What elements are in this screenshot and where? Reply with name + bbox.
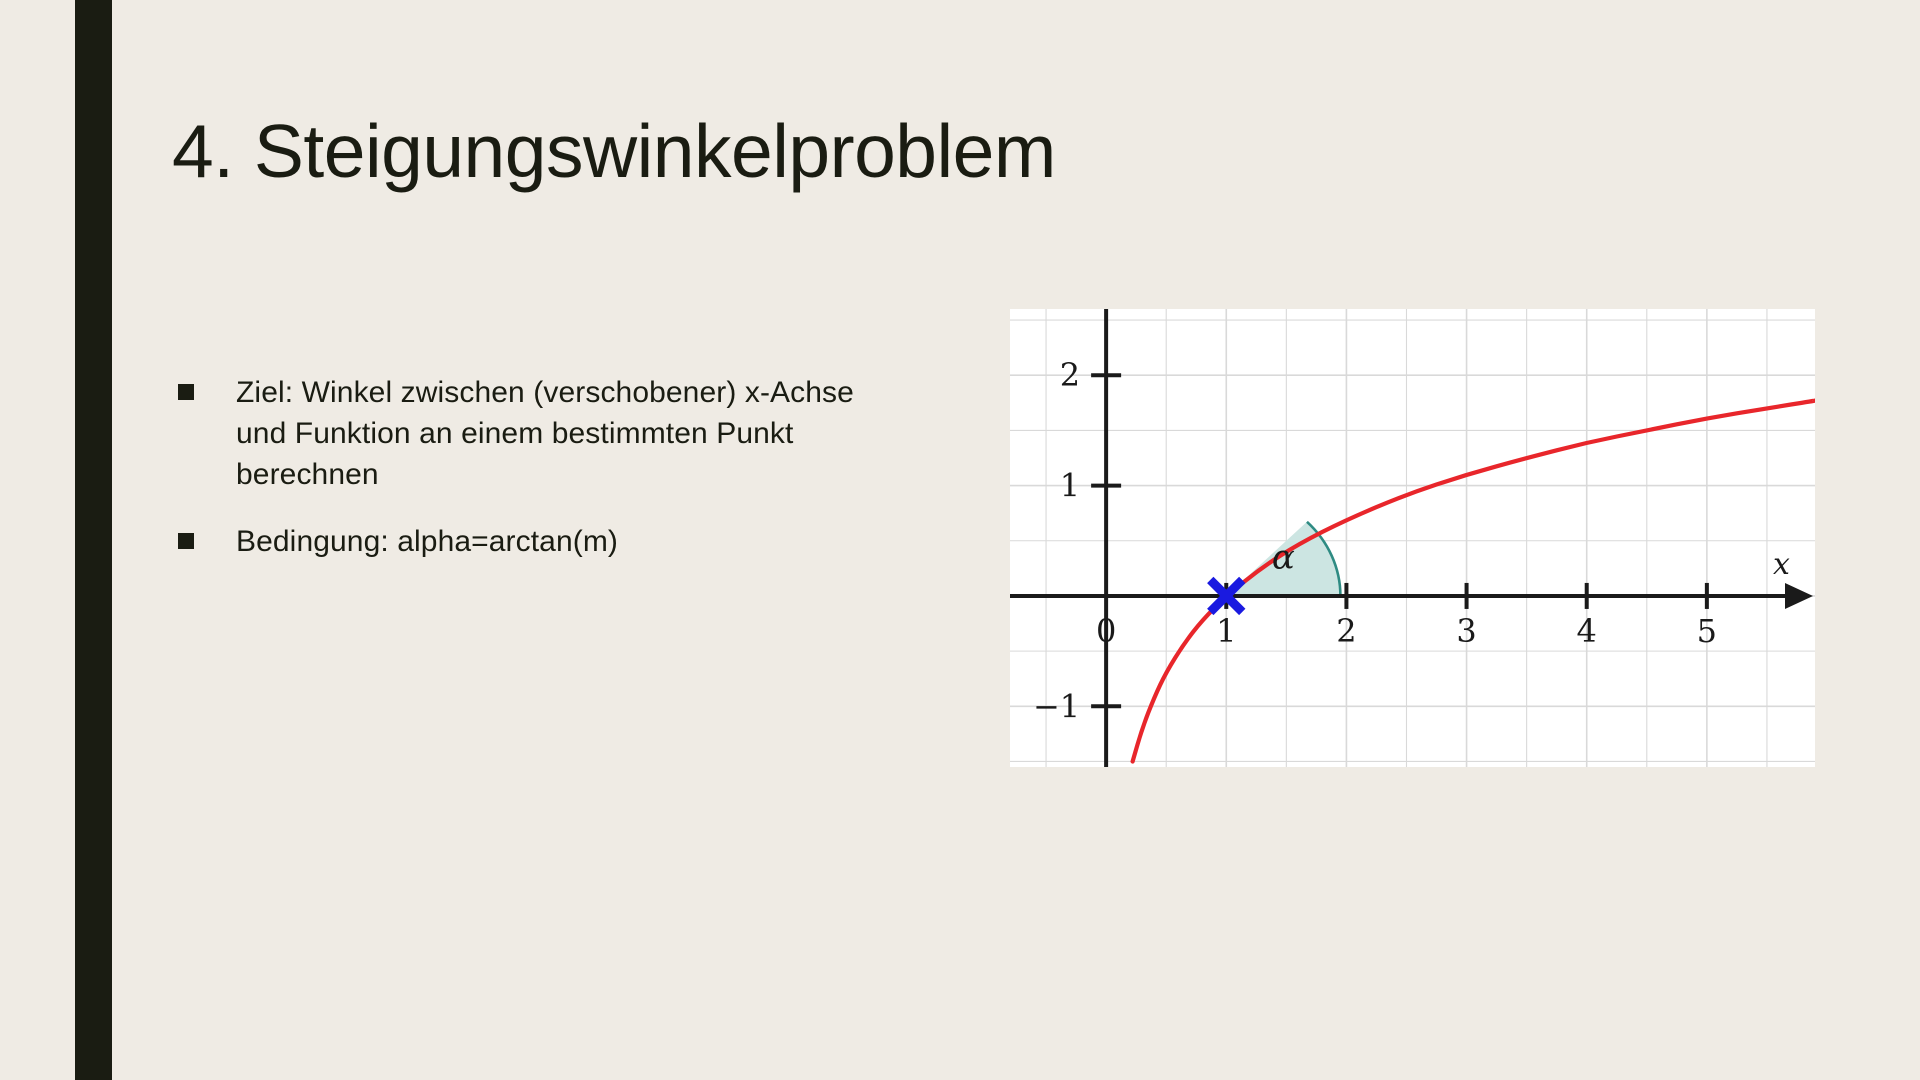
x-tick-label: 1 [1216, 612, 1236, 650]
list-item-label: Bedingung: alpha=arctan(m) [236, 521, 898, 562]
x-tick-label: 5 [1697, 612, 1717, 650]
angle-alpha-label: α [1272, 538, 1295, 578]
graph-background [1010, 309, 1815, 767]
y-tick-label: 2 [1060, 356, 1080, 394]
bullet-list: Ziel: Winkel zwischen (verschobener) x-A… [178, 372, 898, 588]
x-axis-label: x [1773, 547, 1790, 582]
list-item-label: Ziel: Winkel zwischen (verschobener) x-A… [236, 372, 898, 495]
page-title: 4. Steigungswinkelproblem [172, 108, 1056, 194]
x-tick-label: 3 [1456, 612, 1476, 650]
list-item: Bedingung: alpha=arctan(m) [178, 521, 898, 562]
list-item: Ziel: Winkel zwischen (verschobener) x-A… [178, 372, 898, 495]
left-accent-bar [75, 0, 112, 1080]
square-bullet-icon [178, 384, 194, 400]
x-tick-label: 2 [1336, 612, 1356, 650]
x-tick-label: 4 [1577, 612, 1597, 650]
presentation-slide: 4. Steigungswinkelproblem Ziel: Winkel z… [0, 0, 1920, 1080]
y-tick-label: −1 [1033, 687, 1080, 725]
function-graph-svg: 012345−112 α x [1010, 309, 1815, 767]
y-tick-label: 1 [1060, 467, 1080, 505]
x-tick-label: 0 [1096, 612, 1116, 650]
function-graph-image: 012345−112 α x [1010, 309, 1815, 767]
square-bullet-icon [178, 533, 194, 549]
